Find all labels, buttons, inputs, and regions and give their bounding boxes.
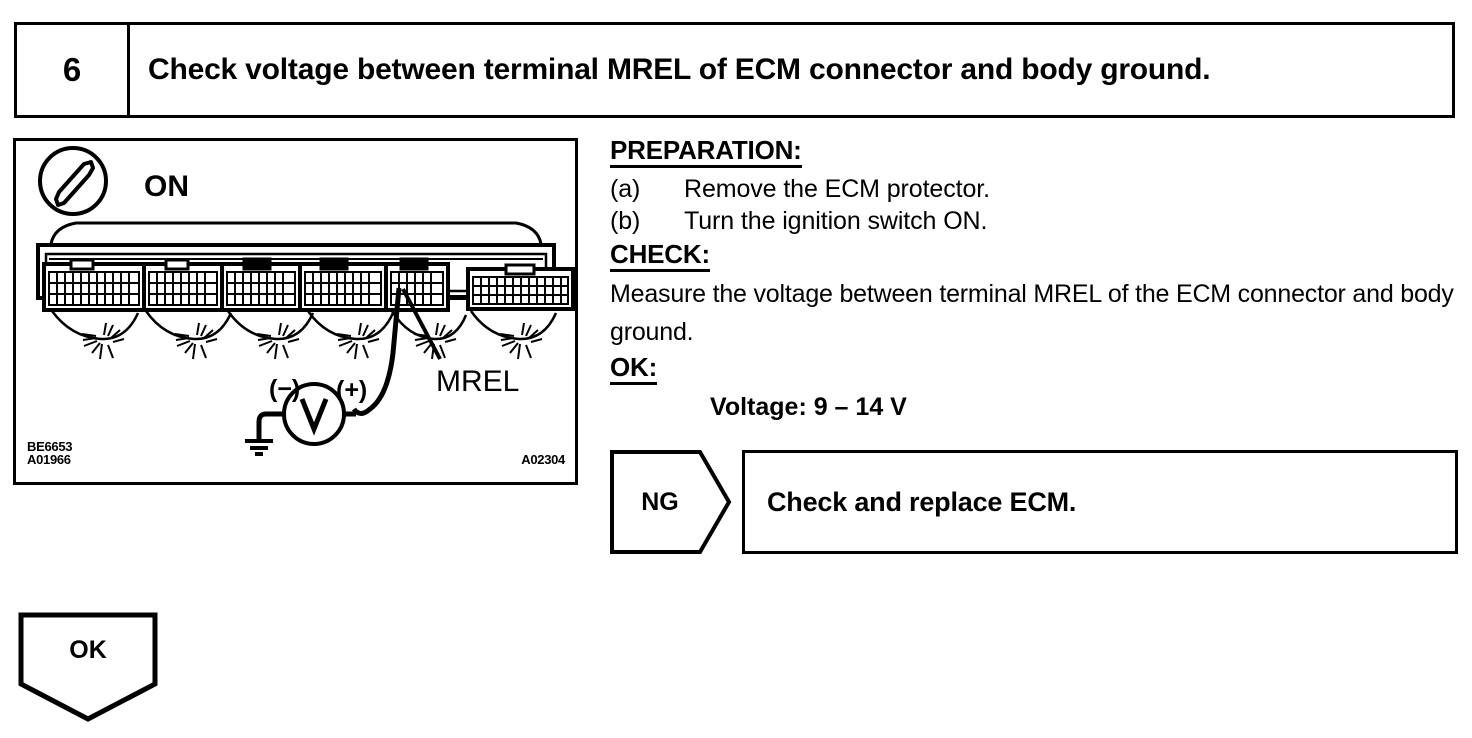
- ok-heading: OK:: [610, 353, 657, 385]
- list-item-text: Remove the ECM protector.: [684, 173, 1458, 205]
- ground-symbol: [245, 441, 273, 454]
- step-header: 6 Check voltage between terminal MREL of…: [14, 22, 1455, 118]
- mrel-terminal-label: MREL: [436, 365, 519, 398]
- ng-branch: NG Check and replace ECM.: [610, 450, 1458, 554]
- ignition-on-label: ON: [144, 170, 189, 203]
- connector-block-2: [144, 260, 222, 310]
- list-item-text: Turn the ignition switch ON.: [684, 205, 1458, 237]
- probe-negative-label: (−): [269, 375, 300, 403]
- figure-panel: (−) (+) ON MREL BE6653 A01966 A02304: [13, 138, 578, 485]
- step-number-cell: 6: [17, 25, 130, 115]
- ecm-connector-diagram: (−) (+) ON MREL: [16, 141, 575, 482]
- step-title-cell: Check voltage between terminal MREL of E…: [130, 25, 1452, 115]
- preparation-heading: PREPARATION:: [610, 136, 802, 168]
- preparation-list: (a) Remove the ECM protector. (b) Turn t…: [610, 173, 1458, 237]
- wire-harness-bundles: [52, 311, 556, 359]
- check-body-text: Measure the voltage between terminal MRE…: [610, 275, 1456, 351]
- connector-block-4: [300, 259, 386, 310]
- figure-code-left: BE6653 A01966: [27, 440, 72, 466]
- list-item: (a) Remove the ECM protector.: [610, 173, 1458, 205]
- list-item: (b) Turn the ignition switch ON.: [610, 205, 1458, 237]
- instruction-column: PREPARATION: (a) Remove the ECM protecto…: [610, 136, 1458, 421]
- connector-block-3: [222, 259, 300, 310]
- figure-code-right: A02304: [521, 453, 565, 466]
- step-title: Check voltage between terminal MREL of E…: [148, 53, 1210, 87]
- check-section: CHECK: Measure the voltage between termi…: [610, 240, 1458, 351]
- connector-block-6: [468, 265, 573, 309]
- connector-block-1: [44, 260, 144, 310]
- check-heading: CHECK:: [610, 240, 710, 272]
- figure-code-a01966: A01966: [27, 453, 72, 466]
- ng-tag-label: NG: [610, 450, 710, 554]
- ok-branch-label: OK: [18, 636, 158, 665]
- list-item-marker: (a): [610, 173, 684, 205]
- ok-branch-shape: OK: [18, 612, 158, 722]
- step-number: 6: [63, 51, 81, 89]
- preparation-section: PREPARATION: (a) Remove the ECM protecto…: [610, 136, 1458, 237]
- probe-positive-label: (+): [336, 376, 367, 404]
- ng-action-box: Check and replace ECM.: [742, 450, 1458, 554]
- list-item-marker: (b): [610, 205, 684, 237]
- ng-action-text: Check and replace ECM.: [767, 487, 1076, 518]
- ok-section: OK: Voltage: 9 – 14 V: [610, 353, 1458, 421]
- voltage-spec: Voltage: 9 – 14 V: [710, 393, 1458, 421]
- ignition-key-icon: [40, 148, 106, 214]
